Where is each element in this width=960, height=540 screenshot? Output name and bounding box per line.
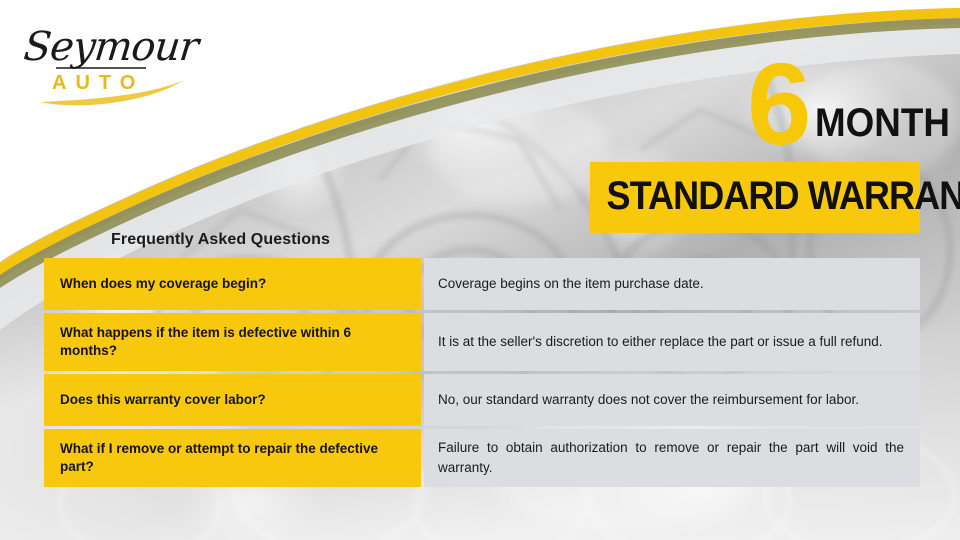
- faq-answer-cell: Coverage begins on the item purchase dat…: [424, 258, 920, 310]
- logo-swoosh-icon: [16, 18, 196, 110]
- faq-heading: Frequently Asked Questions: [111, 231, 330, 249]
- faq-answer-text: Coverage begins on the item purchase dat…: [438, 274, 904, 294]
- table-row: What happens if the item is defective wi…: [44, 313, 920, 371]
- faq-question-cell: What if I remove or attempt to repair th…: [44, 429, 421, 487]
- faq-answer-cell: It is at the seller's discretion to eith…: [424, 313, 920, 371]
- faq-answer-cell: Failure to obtain authorization to remov…: [424, 429, 920, 487]
- faq-answer-cell: No, our standard warranty does not cover…: [424, 374, 920, 426]
- faq-question-cell: Does this warranty cover labor?: [44, 374, 421, 426]
- warranty-title-band: STANDARD WARRANTY: [590, 162, 920, 233]
- brand-logo: Seymour AUTO: [16, 18, 196, 110]
- table-row: What if I remove or attempt to repair th…: [44, 429, 920, 487]
- faq-question-text: What happens if the item is defective wi…: [60, 324, 407, 360]
- table-row: When does my coverage begin? Coverage be…: [44, 258, 920, 310]
- faq-question-text: Does this warranty cover labor?: [60, 391, 266, 409]
- warranty-slide: Seymour AUTO 6 MONTH STANDARD WARRANTY F…: [0, 0, 960, 540]
- duration-unit: MONTH: [815, 103, 950, 143]
- faq-question-cell: What happens if the item is defective wi…: [44, 313, 421, 371]
- faq-question-text: When does my coverage begin?: [60, 275, 266, 293]
- table-row: Does this warranty cover labor? No, our …: [44, 374, 920, 426]
- faq-answer-text: It is at the seller's discretion to eith…: [438, 332, 904, 352]
- faq-answer-text: Failure to obtain authorization to remov…: [438, 438, 904, 477]
- duration-number: 6: [747, 46, 808, 162]
- warranty-title: STANDARD WARRANTY: [607, 172, 904, 220]
- faq-answer-text: No, our standard warranty does not cover…: [438, 390, 904, 410]
- faq-question-cell: When does my coverage begin?: [44, 258, 421, 310]
- faq-table: When does my coverage begin? Coverage be…: [44, 258, 920, 490]
- faq-question-text: What if I remove or attempt to repair th…: [60, 440, 407, 476]
